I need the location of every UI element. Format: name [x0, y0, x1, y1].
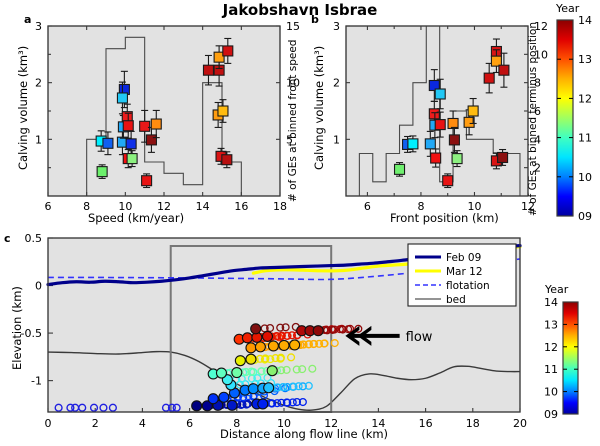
legend-label-0: Feb 09 [446, 252, 481, 264]
scatter-filled-circle [242, 333, 252, 343]
panel-c-ytick: -0.5 [21, 327, 42, 340]
colorbar-c-title: Year [545, 283, 568, 296]
scatter-filled-circle [216, 368, 226, 378]
panel-c-xtick: 0 [45, 417, 52, 430]
panel-c-xtick: 2 [92, 417, 99, 430]
colorbar-tick: 09 [544, 408, 558, 421]
scatter-filled-circle [192, 401, 202, 411]
scatter-filled-circle [219, 392, 229, 402]
panel-a-y2tick: 10 [286, 77, 300, 90]
panel-c-ytick: -1 [31, 375, 42, 388]
panel-c-xtick: 12 [324, 417, 338, 430]
colorbar-tick: 11 [544, 363, 558, 376]
panel-a-y2tick: 15 [286, 20, 300, 33]
scatter-filled-circle [248, 384, 258, 394]
colorbar-tick: 14 [544, 296, 558, 309]
panel-c-ytick: 0.5 [25, 232, 43, 245]
panel-a-y2tick: 5 [286, 133, 293, 146]
colorbar-tick: 13 [578, 53, 592, 66]
panel-c-xtick: 6 [186, 417, 193, 430]
colorbar-gradient [563, 302, 578, 414]
panel-c-ytick: 0 [35, 280, 42, 293]
scatter-filled-circle [246, 343, 256, 353]
scatter-filled-circle [267, 366, 277, 376]
panel-a-xtick: 16 [234, 200, 248, 213]
colorbar-bottom: 141312111009 [530, 296, 600, 426]
panel-a-datapoint [97, 165, 107, 179]
legend-label-3: bed [446, 294, 466, 306]
panel-a-datapoint [142, 174, 152, 188]
panel-c-xtick: 16 [419, 417, 433, 430]
colorbar-tick: 14 [578, 14, 592, 27]
panel-b-xtick: 12 [521, 200, 535, 213]
panel-c-xtick: 14 [371, 417, 385, 430]
scatter-filled-circle [246, 354, 256, 364]
legend-label-2: flotation [446, 280, 490, 292]
panel-b-y2tick: 2 [534, 162, 541, 175]
colorbar-tick: 13 [544, 318, 558, 331]
panel-a-xtick: 8 [83, 200, 90, 213]
scatter-filled-circle [227, 400, 237, 410]
flow-label: flow [406, 330, 433, 345]
panel-a-ytick: 2 [35, 77, 42, 90]
panel-b-datapoint [443, 174, 453, 188]
panel-a-ytick: 3 [35, 20, 42, 33]
colorbar-tick: 12 [544, 341, 558, 354]
colorbar-tick: 10 [544, 386, 558, 399]
panel-c-xtick: 18 [466, 417, 480, 430]
panel-b-xtick: 8 [417, 200, 424, 213]
scatter-filled-circle [255, 342, 265, 352]
scatter-filled-circle [262, 331, 272, 341]
panel-c-xtick: 10 [277, 417, 291, 430]
scatter-filled-circle [264, 383, 274, 393]
panel-b-ytick: 3 [333, 20, 340, 33]
panel-b-y2tick: 6 [534, 105, 541, 118]
scatter-filled-circle [258, 399, 268, 409]
panel-b-ytick: 1 [333, 133, 340, 146]
scatter-filled-circle [208, 394, 218, 404]
colorbar-tick: 11 [578, 132, 592, 145]
panel-a-xtick: 14 [196, 200, 210, 213]
panel-b-datapoint [395, 163, 405, 177]
panel-b-xtick: 10 [467, 200, 481, 213]
panel-b-y2tick: 4 [534, 133, 541, 146]
figure-root: Jakobshavn Isbrae a Calving volume (km³)… [0, 0, 600, 444]
panel-c-xtick: 8 [233, 417, 240, 430]
scatter-filled-circle [279, 340, 289, 350]
scatter-filled-circle [313, 326, 323, 336]
panel-a-xtick: 10 [118, 200, 132, 213]
colorbar-tick: 10 [578, 171, 592, 184]
colorbar-tick: 09 [578, 210, 592, 223]
colorbar-tick: 12 [578, 92, 592, 105]
scatter-filled-circle [290, 340, 300, 350]
panel-c-xtick: 4 [139, 417, 146, 430]
panel-b-xtick: 6 [364, 200, 371, 213]
panel-b-ytick: 2 [333, 77, 340, 90]
panel-a-plot: 68101214161812351015 [0, 0, 300, 230]
panel-a-xtick: 18 [273, 200, 287, 213]
panel-c-xtick: 20 [513, 417, 527, 430]
legend-label-1: Mar 12 [446, 266, 483, 278]
scatter-filled-circle [251, 324, 261, 334]
panel-b-y2tick: 8 [534, 77, 541, 90]
colorbar-gradient [557, 20, 573, 216]
panel-a-ytick: 1 [35, 133, 42, 146]
colorbar-top: 141312111009 [545, 14, 600, 229]
scatter-filled-circle [235, 356, 245, 366]
panel-a-xtick: 12 [157, 200, 171, 213]
panel-c-plot: 024681012141618200.50-0.5-1flowFeb 09Mar… [0, 226, 600, 446]
panel-a-xtick: 6 [45, 200, 52, 213]
scatter-filled-circle [232, 368, 242, 378]
scatter-filled-circle [268, 341, 278, 351]
